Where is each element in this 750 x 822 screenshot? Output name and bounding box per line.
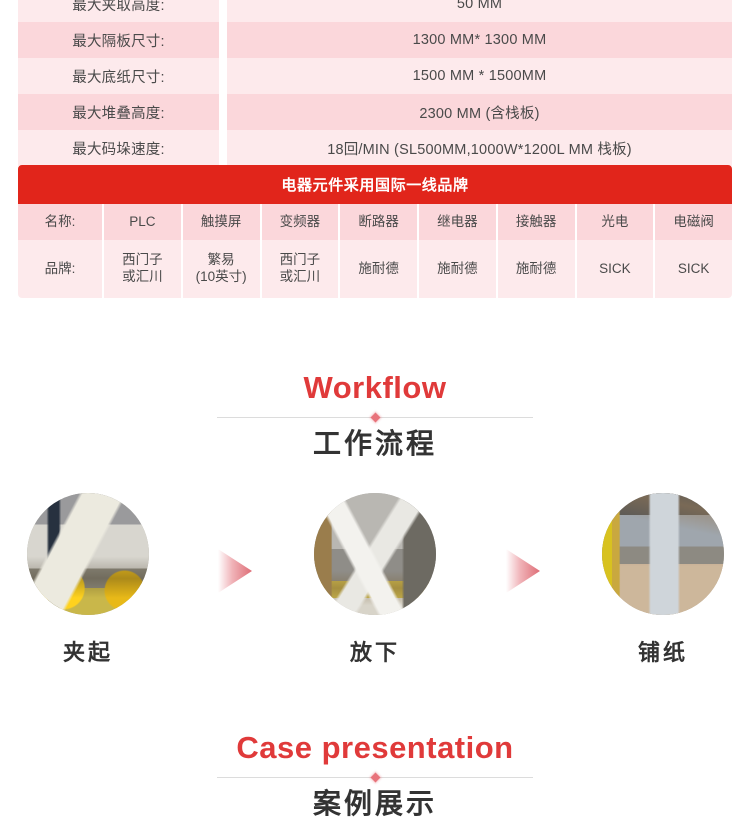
workflow-title-en: Workflow [0,372,750,403]
spec-value: 1500 MM * 1500MM [227,58,732,94]
table-row: 最大码垛速度: 18回/MIN (SL500MM,1000W*1200L MM … [18,130,732,166]
component-brand: SICK [655,240,732,298]
component-name: 变频器 [262,204,341,240]
spec-label: 最大底纸尺寸: [18,58,219,94]
column-gap [219,0,227,22]
table-row-names: 名称: PLC 触摸屏 变频器 断路器 继电器 接触器 光电 电磁阀 [18,204,732,240]
component-name: 光电 [577,204,656,240]
workflow-step-3-label: 铺纸 [583,635,743,667]
diamond-icon [370,773,380,783]
robot-arm-photo [314,493,436,615]
column-gap [219,130,227,166]
component-name: 触摸屏 [183,204,262,240]
table-row: 最大堆叠高度: 2300 MM (含栈板) [18,94,732,130]
diamond-icon [370,413,380,423]
component-name: 继电器 [419,204,498,240]
component-brand: 西门子或汇川 [104,240,183,298]
component-name-label: 名称: [18,204,104,240]
spec-label: 最大码垛速度: [18,130,219,166]
component-name: 接触器 [498,204,577,240]
component-brand: SICK [577,240,656,298]
case-section-heading: Case presentation 案例展示 [0,732,750,820]
spec-label: 最大堆叠高度: [18,94,219,130]
spec-label: 最大夹取高度: [18,0,219,22]
component-name: 断路器 [340,204,419,240]
column-gap [219,94,227,130]
spec-value: 2300 MM (含栈板) [227,94,732,130]
component-brand: 繁易(10英寸) [183,240,262,298]
spec-label: 最大隔板尺寸: [18,22,219,58]
paper-sheet-photo [602,493,724,615]
workflow-section-heading: Workflow 工作流程 [0,372,750,460]
workflow-step-3: 铺纸 [583,493,743,667]
column-gap [219,22,227,58]
spec-value: 18回/MIN (SL500MM,1000W*1200L MM 栈板) [227,130,732,166]
component-brand: 施耐德 [419,240,498,298]
workflow-title-cn: 工作流程 [0,429,750,460]
case-title-en: Case presentation [0,732,750,763]
heading-divider [217,777,533,778]
component-brand: 施耐德 [498,240,577,298]
component-brand: 施耐德 [340,240,419,298]
component-name: 电磁阀 [655,204,732,240]
heading-divider [217,417,533,418]
component-brand-label: 品牌: [18,240,104,298]
table-row: 最大底纸尺寸: 1500 MM * 1500MM [18,58,732,94]
table-row-brands: 品牌: 西门子或汇川 繁易(10英寸) 西门子或汇川 施耐德 施耐德 施耐德 S… [18,240,732,298]
workflow-steps: 夹起 放下 铺纸 [0,493,750,668]
workflow-step-1: 夹起 [8,493,168,667]
table-row: 最大隔板尺寸: 1300 MM* 1300 MM [18,22,732,58]
workflow-step-2: 放下 [295,493,455,667]
workflow-step-2-label: 放下 [295,635,455,667]
workflow-step-2-image [314,493,436,615]
specifications-table: 最大夹取高度: 50 MM 最大隔板尺寸: 1300 MM* 1300 MM 最… [18,0,732,166]
workflow-step-1-label: 夹起 [8,635,168,667]
column-gap [219,58,227,94]
palletizer-machine-photo [27,493,149,615]
table-row: 最大夹取高度: 50 MM [18,0,732,22]
spec-value: 1300 MM* 1300 MM [227,22,732,58]
workflow-step-1-image [27,493,149,615]
case-title-cn: 案例展示 [0,789,750,820]
spec-value: 50 MM [227,0,732,22]
component-brand: 西门子或汇川 [262,240,341,298]
components-table: 电器元件采用国际一线品牌 名称: PLC 触摸屏 变频器 断路器 继电器 接触器… [18,165,732,298]
component-name: PLC [104,204,183,240]
components-table-header: 电器元件采用国际一线品牌 [18,165,732,204]
workflow-step-3-image [602,493,724,615]
